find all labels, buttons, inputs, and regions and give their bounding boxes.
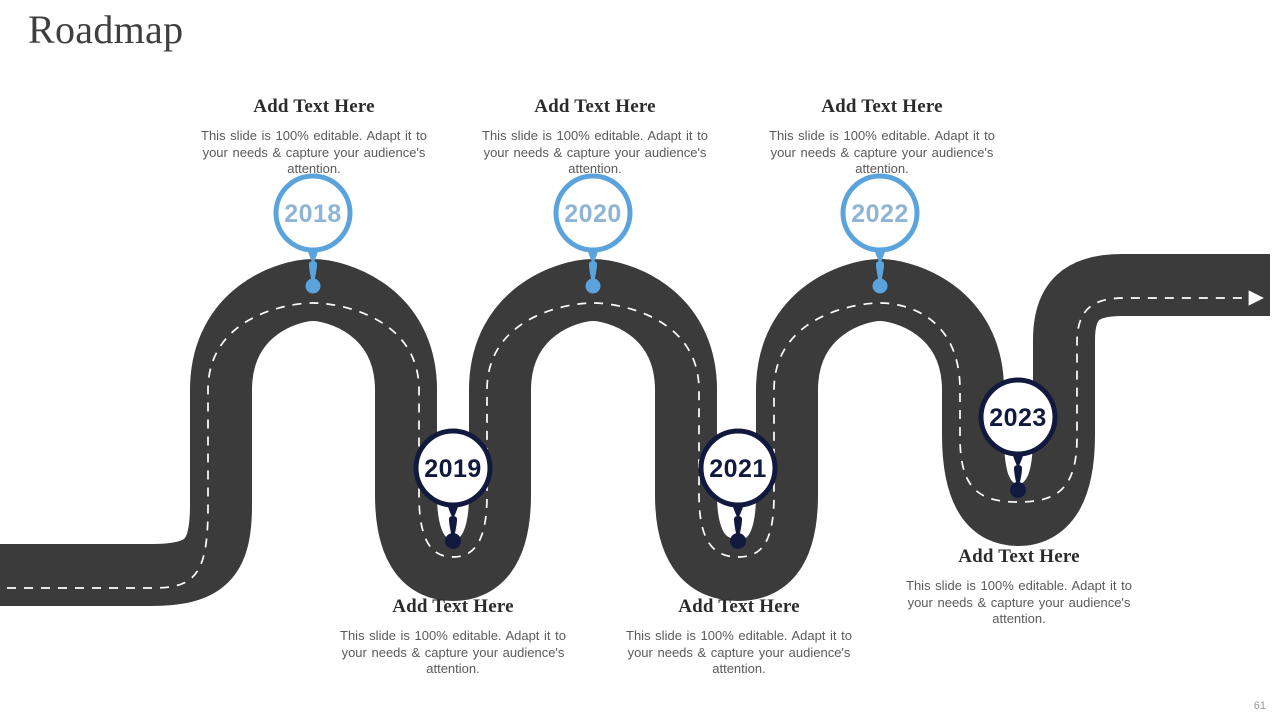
- milestone-heading-2018: Add Text Here: [199, 96, 429, 118]
- milestone-text-2023: Add Text Here This slide is 100% editabl…: [904, 546, 1134, 628]
- milestone-text-2021: Add Text Here This slide is 100% editabl…: [624, 596, 854, 678]
- milestone-text-2022: Add Text Here This slide is 100% editabl…: [767, 96, 997, 178]
- milestone-heading-2023: Add Text Here: [904, 546, 1134, 568]
- pin-shape-2020: [543, 168, 643, 298]
- milestone-body-2022: This slide is 100% editable. Adapt it to…: [767, 128, 997, 178]
- page-number: 61: [1254, 700, 1266, 712]
- milestone-text-2019: Add Text Here This slide is 100% editabl…: [338, 596, 568, 678]
- road-asphalt: [0, 285, 1270, 575]
- milestone-body-2021: This slide is 100% editable. Adapt it to…: [624, 628, 854, 678]
- pin-shape-2021: [688, 423, 788, 553]
- milestone-text-2018: Add Text Here This slide is 100% editabl…: [199, 96, 429, 178]
- pin-shape-2022: [830, 168, 930, 298]
- milestone-body-2020: This slide is 100% editable. Adapt it to…: [480, 128, 710, 178]
- milestone-heading-2021: Add Text Here: [624, 596, 854, 618]
- pin-shape-2018: [263, 168, 363, 298]
- pin-shape-2019: [403, 423, 503, 553]
- milestone-body-2023: This slide is 100% editable. Adapt it to…: [904, 578, 1134, 628]
- milestone-body-2019: This slide is 100% editable. Adapt it to…: [338, 628, 568, 678]
- milestone-text-2020: Add Text Here This slide is 100% editabl…: [480, 96, 710, 178]
- milestone-heading-2019: Add Text Here: [338, 596, 568, 618]
- pin-shape-2023: [968, 372, 1068, 502]
- milestone-heading-2020: Add Text Here: [480, 96, 710, 118]
- milestone-body-2018: This slide is 100% editable. Adapt it to…: [199, 128, 429, 178]
- milestone-heading-2022: Add Text Here: [767, 96, 997, 118]
- slide-canvas: Roadmap 2018 2019: [0, 0, 1280, 720]
